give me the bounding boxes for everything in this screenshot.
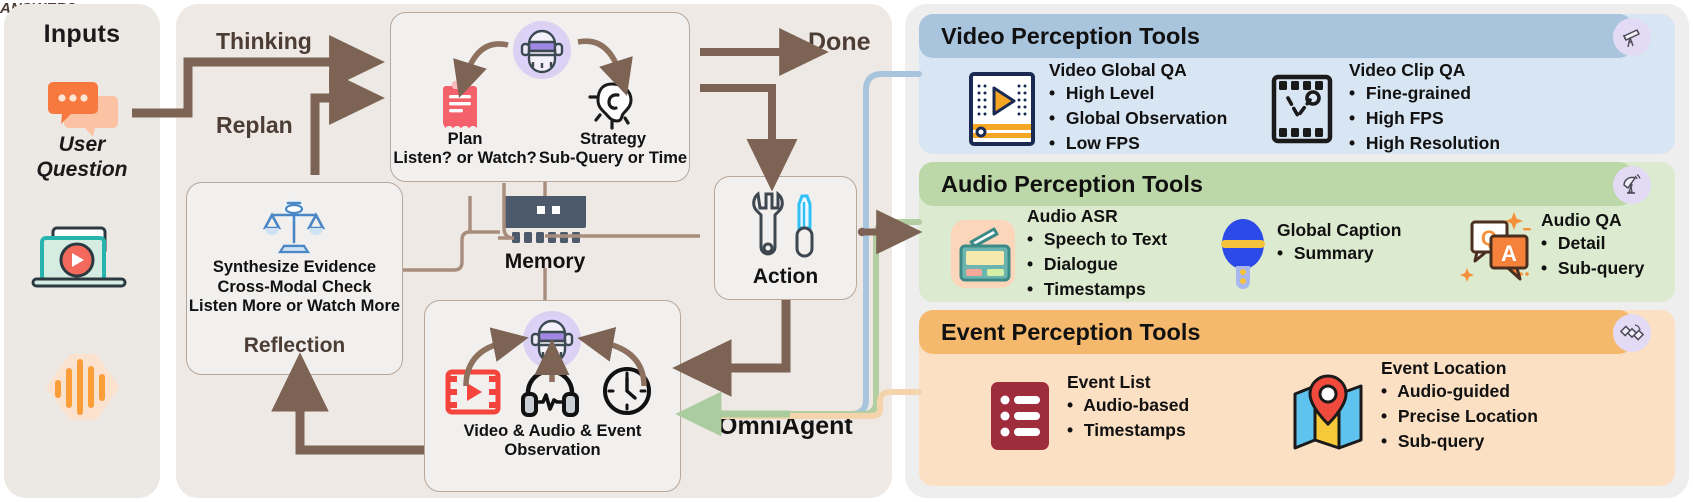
tool-title: Audio ASR xyxy=(1027,206,1167,227)
tool-global-caption: Global Caption • Summary xyxy=(1277,220,1401,266)
wrench-screwdriver-icon xyxy=(744,190,826,262)
reflection-line-3: Listen More or Watch More xyxy=(189,297,400,315)
plan-label: Plan Listen? or Watch? xyxy=(392,130,538,168)
reflection-title: Reflection xyxy=(188,334,401,358)
tool-bullet: • High FPS xyxy=(1349,106,1500,131)
tool-bullet: • Dialogue xyxy=(1027,252,1167,277)
tool-section-event: Event Perception Tools xyxy=(919,310,1675,486)
qa-bubbles-icon: Q A xyxy=(1457,206,1535,288)
tool-bullet: • Speech to Text xyxy=(1027,227,1167,252)
svg-text:A: A xyxy=(1501,241,1517,266)
tool-title: Video Clip QA xyxy=(1349,60,1500,81)
tool-bullet: • High Level xyxy=(1049,81,1227,106)
tool-section-video-title: Video Perception Tools xyxy=(941,23,1200,50)
tool-event-list: Event List • Audio-based • Timestamps xyxy=(1067,372,1189,443)
map-pin-icon xyxy=(1291,372,1367,454)
clipboard-icon xyxy=(438,80,482,132)
tool-bullet: • Audio-based xyxy=(1067,393,1189,418)
tool-title: Global Caption xyxy=(1277,220,1401,241)
memory-chip-icon xyxy=(500,192,590,248)
tool-bullet: • Sub-query xyxy=(1541,256,1644,281)
tool-bullet: • Timestamps xyxy=(1067,418,1189,443)
microphone-icon xyxy=(1219,218,1267,290)
strategy-subtitle: Sub-Query or Time xyxy=(539,149,687,167)
edge-label-replan: Replan xyxy=(216,112,366,139)
observation-label: Video & Audio & Event Observation xyxy=(426,422,679,460)
inputs-title: Inputs xyxy=(4,20,160,49)
video-laptop-icon xyxy=(31,222,135,296)
chat-bubble-icon xyxy=(47,78,119,140)
tool-bullet: • Detail xyxy=(1541,231,1644,256)
telescope-icon xyxy=(1613,18,1651,56)
tool-audio-qa: Audio QA • Detail • Sub-query xyxy=(1541,210,1644,281)
tool-audio-asr: Audio ASR • Speech to Text • Dialogue • … xyxy=(1027,206,1167,302)
tool-bullet: • Precise Location xyxy=(1381,404,1538,429)
radio-icon xyxy=(949,218,1017,290)
tool-section-audio: Audio Perception Tools Audio ASR • S xyxy=(919,162,1675,302)
plan-subtitle: Listen? or Watch? xyxy=(393,149,536,167)
tool-event-location: Event Location • Audio-guided • Precise … xyxy=(1381,358,1538,454)
satellite-dish-icon xyxy=(1613,166,1651,204)
tool-section-video: Video Perception Tools xyxy=(919,14,1675,154)
tool-bullet: • Fine-grained xyxy=(1349,81,1500,106)
tool-bullet: • Timestamps xyxy=(1027,277,1167,302)
clock-icon xyxy=(602,366,652,416)
robot-avatar-icon xyxy=(522,310,582,370)
reflection-line-1: Synthesize Evidence xyxy=(213,258,376,276)
reflection-lines: Synthesize Evidence Cross-Modal Check Li… xyxy=(188,258,401,317)
tool-title: Event List xyxy=(1067,372,1189,393)
tool-section-event-title: Event Perception Tools xyxy=(941,319,1200,346)
tool-bullet: • Global Observation xyxy=(1049,106,1227,131)
memory-label: Memory xyxy=(480,250,610,274)
reflection-line-2: Cross-Modal Check xyxy=(217,278,371,296)
tool-title: Event Location xyxy=(1381,358,1538,379)
action-label: Action xyxy=(714,265,857,289)
headphones-waveform-icon xyxy=(522,368,578,416)
tool-bullet: • Summary xyxy=(1277,241,1401,266)
scales-balance-icon xyxy=(262,198,326,256)
strategy-title: Strategy xyxy=(580,130,646,148)
robot-avatar-icon xyxy=(512,20,572,80)
tool-video-clip-qa: Video Clip QA • Fine-grained • High FPS … xyxy=(1349,60,1500,156)
list-icon xyxy=(989,380,1051,452)
edge-label-done: Done xyxy=(808,28,908,57)
diagram-canvas: Inputs UserQuestion xyxy=(0,0,1693,502)
tool-title: Video Global QA xyxy=(1049,60,1227,81)
film-strip-icon xyxy=(1271,74,1333,144)
tool-bullet: • Low FPS xyxy=(1049,131,1227,156)
video-player-icon xyxy=(969,72,1035,146)
tool-title: Audio QA xyxy=(1541,210,1644,231)
film-play-icon xyxy=(446,370,500,414)
tool-bullet: • Sub-query xyxy=(1381,429,1538,454)
tool-bullet: • Audio-guided xyxy=(1381,379,1538,404)
edge-label-thinking: Thinking xyxy=(216,28,366,55)
satellite-icon xyxy=(1613,314,1651,352)
tool-bullet: • High Resolution xyxy=(1349,131,1500,156)
strategy-label: Strategy Sub-Query or Time xyxy=(538,130,688,168)
lightbulb-idea-icon xyxy=(588,78,640,132)
audio-waveform-icon xyxy=(44,352,122,422)
omniagent-label: OmniAgent xyxy=(718,412,878,441)
input-label-user-question: UserQuestion xyxy=(4,132,160,182)
plan-title: Plan xyxy=(448,130,483,148)
tool-section-audio-title: Audio Perception Tools xyxy=(941,171,1203,198)
tool-video-global-qa: Video Global QA • High Level • Global Ob… xyxy=(1049,60,1227,156)
